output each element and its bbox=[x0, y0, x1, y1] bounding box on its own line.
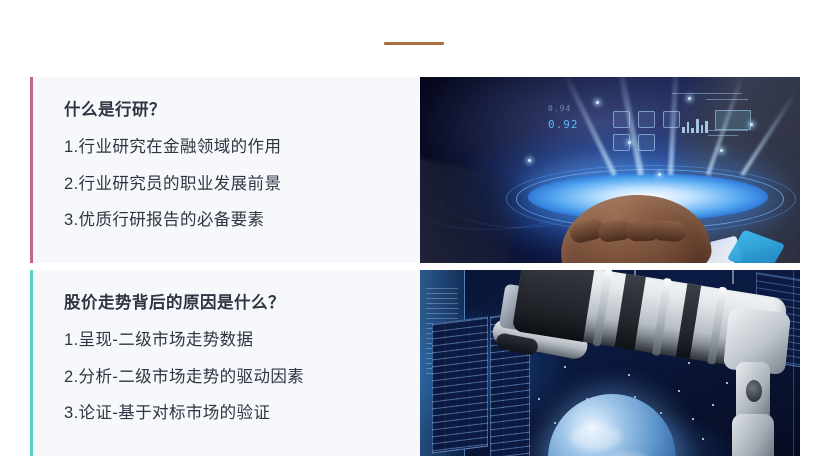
holo-icon-5 bbox=[638, 134, 655, 151]
telescope-lens bbox=[746, 380, 762, 402]
solar-panel-1 bbox=[432, 317, 488, 454]
frame-line-right bbox=[793, 270, 794, 456]
spark-5 bbox=[658, 173, 661, 176]
barrel-ring-1 bbox=[593, 270, 613, 347]
holo-icon-3 bbox=[663, 111, 680, 128]
card-1-item-2: 2.行业研究员的职业发展前景 bbox=[64, 175, 420, 195]
earth-cloud-2 bbox=[606, 452, 650, 456]
card-2-text-panel: 股价走势背后的原因是什么？ 1.呈现-二级市场走势数据 2.分析-二级市场走势的… bbox=[33, 270, 420, 456]
card-1-text-panel: 什么是行研？ 1.行业研究在金融领域的作用 2.行业研究员的职业发展前景 3.优… bbox=[33, 77, 420, 263]
spark-6 bbox=[528, 159, 531, 162]
hologram-scene: 0.94 0.92 bbox=[420, 77, 800, 263]
holo-area-chart bbox=[715, 110, 751, 130]
barrel-band-3 bbox=[676, 283, 701, 358]
content-card-2[interactable]: 股价走势背后的原因是什么？ 1.呈现-二级市场走势数据 2.分析-二级市场走势的… bbox=[30, 270, 800, 456]
spark-7 bbox=[750, 123, 753, 126]
space-scene bbox=[420, 270, 800, 456]
spark-1 bbox=[596, 101, 599, 104]
card-1-item-3: 3.优质行研报告的必备要素 bbox=[64, 211, 420, 231]
telescope-base bbox=[732, 414, 774, 456]
finger-4 bbox=[651, 220, 686, 242]
holo-hud-line-3 bbox=[708, 130, 748, 131]
content-card-1[interactable]: 什么是行研？ 1.行业研究在金融领域的作用 2.行业研究员的职业发展前景 3.优… bbox=[30, 77, 800, 263]
space-telescope-image bbox=[420, 270, 800, 456]
earth-planet bbox=[548, 394, 676, 456]
holo-hud-line-4 bbox=[708, 135, 738, 136]
holo-hud-line-1 bbox=[672, 93, 742, 94]
spark-4 bbox=[720, 149, 723, 152]
holo-icon-2 bbox=[638, 111, 655, 128]
decorative-divider bbox=[384, 42, 444, 45]
card-2-title: 股价走势背后的原因是什么？ bbox=[64, 294, 420, 314]
holo-value-2: 0.92 bbox=[548, 118, 579, 131]
spark-3 bbox=[688, 97, 691, 100]
spark-2 bbox=[628, 141, 631, 144]
earth-cloud-1 bbox=[570, 424, 622, 450]
businessman-hologram-image: 0.94 0.92 bbox=[420, 77, 800, 263]
holo-value-1: 0.94 bbox=[548, 104, 571, 113]
barrel-band-2 bbox=[615, 274, 646, 350]
holo-bar-chart bbox=[682, 117, 708, 133]
card-1-title: 什么是行研？ bbox=[64, 101, 420, 121]
card-2-item-1: 1.呈现-二级市场走势数据 bbox=[64, 331, 420, 351]
support-strut-3 bbox=[732, 270, 734, 284]
header-divider-area bbox=[0, 0, 828, 77]
barrel-ring-2 bbox=[652, 278, 672, 356]
holo-hud-line-2 bbox=[706, 99, 748, 100]
holo-icon-1 bbox=[613, 111, 630, 128]
barrel-band-1 bbox=[512, 270, 595, 342]
card-1-item-1: 1.行业研究在金融领域的作用 bbox=[64, 138, 420, 158]
card-2-item-2: 2.分析-二级市场走势的驱动因素 bbox=[64, 368, 420, 388]
card-2-item-3: 3.论证-基于对标市场的验证 bbox=[64, 404, 420, 424]
page-root: 什么是行研？ 1.行业研究在金融领域的作用 2.行业研究员的职业发展前景 3.优… bbox=[0, 0, 828, 460]
